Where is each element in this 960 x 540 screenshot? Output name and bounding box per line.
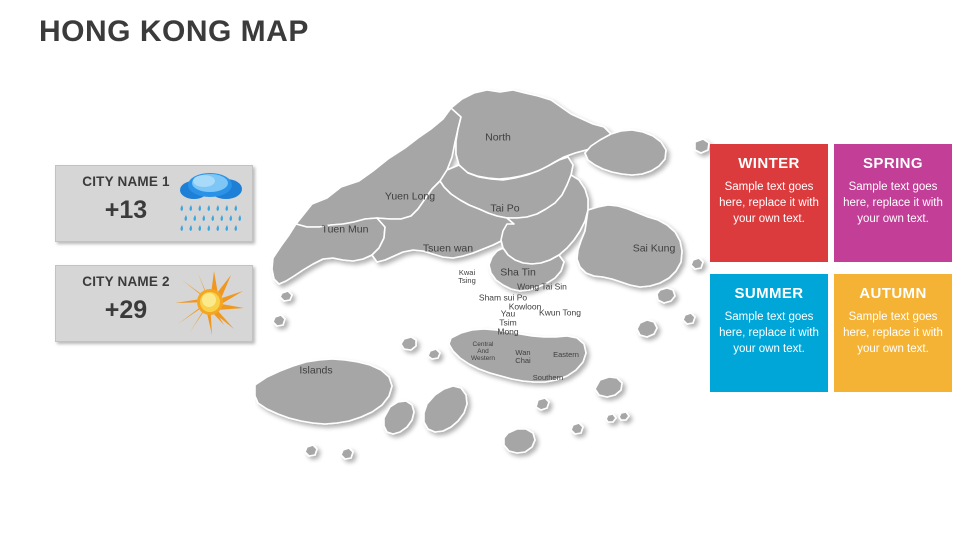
city-name-label: CITY NAME 2 [66,274,186,289]
island-small-16 [341,448,353,459]
city-temperature-value: +13 [66,196,186,225]
island-small-14 [695,139,709,153]
city-temperature-value: +29 [66,296,186,325]
island-small-7 [683,313,695,324]
island-ne-small-3 [657,288,675,303]
season-card-summer[interactable]: SUMMER Sample text goes here, replace it… [710,274,828,392]
island-small-4 [401,337,416,350]
season-body-text: Sample text goes here, replace it with y… [710,179,828,227]
page-title: HONG KONG MAP [39,15,309,49]
season-title: AUTUMN [834,285,952,302]
island-small-12 [606,414,616,422]
island-small-11 [571,423,583,434]
island-small-8 [691,258,703,269]
island-ne-small-1 [595,377,622,397]
island-small-9 [280,291,292,301]
season-card-autumn[interactable]: AUTUMN Sample text goes here, replace it… [834,274,952,392]
island-small-10 [273,315,285,326]
island-cheung-chau [384,401,414,434]
city-weather-card[interactable]: CITY NAME 1 +13 [55,165,253,242]
rain-cloud-icon [174,169,246,239]
island-small-13 [619,412,629,420]
hong-kong-map[interactable]: North Yuen Long Tai Po Tuen Mun Tsuen wa… [255,85,715,475]
region-hong-kong-island [449,329,586,382]
sun-icon [174,269,246,339]
season-body-text: Sample text goes here, replace it with y… [834,179,952,227]
island-small-15 [305,445,317,456]
island-small-5 [428,349,440,359]
map-landmass-group [255,90,709,459]
island-ne-small-2 [637,320,657,337]
city-weather-card[interactable]: CITY NAME 2 +29 [55,265,253,342]
season-title: SUMMER [710,285,828,302]
island-small-6 [536,398,549,410]
slide-canvas: HONG KONG MAP [0,0,960,540]
island-po-toi [504,429,535,453]
region-sai-kung [577,205,682,287]
region-north [451,90,611,179]
season-body-text: Sample text goes here, replace it with y… [834,309,952,357]
season-body-text: Sample text goes here, replace it with y… [710,309,828,357]
region-lantau-island [255,359,392,424]
city-name-label: CITY NAME 1 [66,174,186,189]
season-card-winter[interactable]: WINTER Sample text goes here, replace it… [710,144,828,262]
season-card-spring[interactable]: SPRING Sample text goes here, replace it… [834,144,952,262]
season-title: WINTER [710,155,828,172]
island-lamma [424,386,467,432]
map-svg [255,85,715,475]
region-tuen-mun [272,218,385,284]
season-title: SPRING [834,155,952,172]
